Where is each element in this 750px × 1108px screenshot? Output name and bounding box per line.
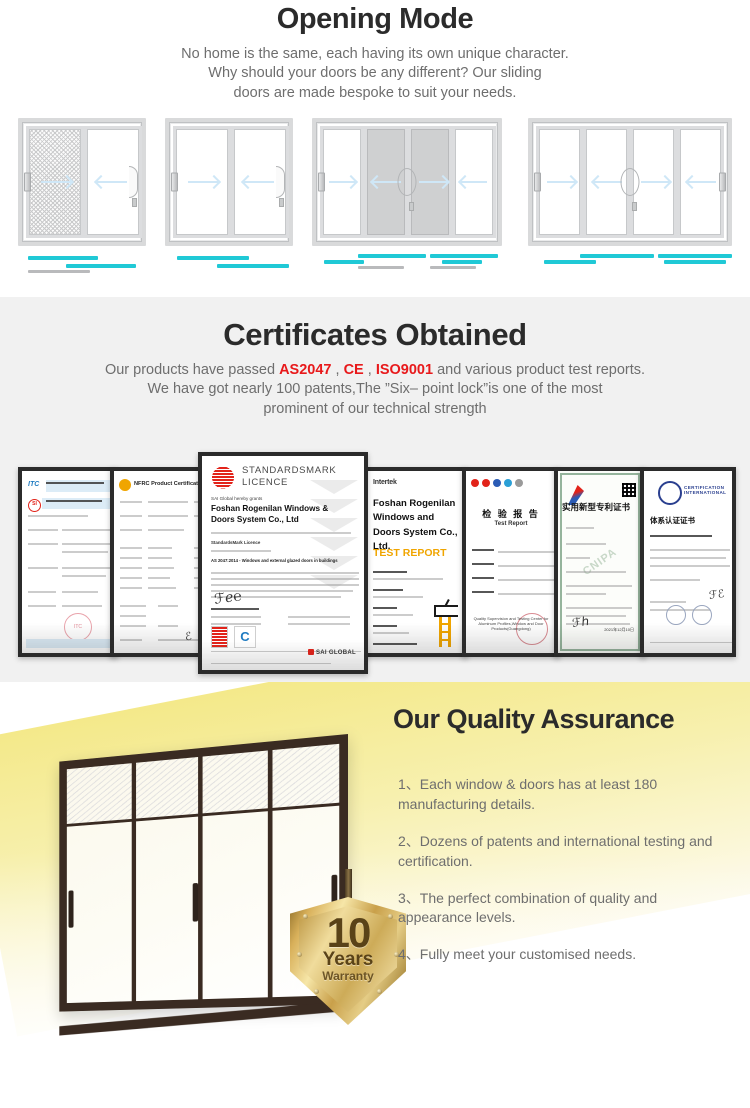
quality-assurance-title: Our Quality Assurance — [393, 704, 674, 735]
badge-number: 10 — [290, 913, 406, 953]
quality-seal-left — [666, 605, 686, 625]
standardsmark-company: Foshan Rogenilan Windows & Doors System … — [211, 504, 354, 525]
standardsmark-logo — [211, 464, 236, 490]
badge-text: 10 Years Warranty — [290, 913, 406, 982]
door-handle-left — [24, 173, 31, 192]
certificate-utility-model-patent[interactable]: 实用新型专利证书 CNIPA ℱℎ 2021年12月10日 — [554, 467, 646, 657]
qr-code — [622, 483, 636, 497]
certificate-standard-name: ISO9001 — [376, 362, 433, 378]
quality-system-signature: ℱℰ — [708, 587, 725, 602]
door-rail-back — [658, 254, 732, 258]
intertek-report-label: TEST REPORT — [373, 547, 447, 559]
door-lock-pin — [132, 198, 137, 207]
door-handle-left — [534, 173, 541, 192]
certificates-subtitle-text: Our products have passed — [105, 362, 279, 378]
door-panel-divider — [131, 763, 135, 1001]
door-rail-front — [28, 256, 98, 260]
certificates-subtitle-text: and various product test reports. — [433, 362, 645, 378]
itc-logo: ITC — [28, 481, 39, 488]
certificates-subtitle-line-2: We have got nearly 100 patents,The ”Six–… — [0, 380, 750, 399]
certificate-china-inspection-report[interactable]: 检 验 报 告 Test Report Quality Supervision … — [462, 467, 560, 657]
door-rail-front — [544, 260, 596, 264]
opening-mode-subtitle-line-2: Why should your doors be any different? … — [0, 64, 750, 83]
quality-assurance-item-2: 2、Dozens of patents and international te… — [398, 832, 728, 872]
door-handle-right — [129, 166, 138, 198]
door-handle-centre-ring — [398, 168, 417, 196]
door-screen-panel — [26, 126, 84, 238]
quality-assurance-item-1: 1、Each window & doors has at least 180 m… — [398, 775, 728, 815]
door-transom-window — [67, 744, 339, 827]
quality-assurance-list: 1、Each window & doors has at least 180 m… — [398, 775, 728, 982]
door-handle-left — [171, 173, 178, 192]
quality-assurance-item-3: 3、The perfect combination of quality and… — [398, 889, 728, 929]
certificate-intertek-test-report[interactable]: Intertek Foshan Rogenilan Windows and Do… — [364, 467, 468, 657]
door-lock-pin — [632, 202, 637, 211]
door-handle-right — [719, 173, 726, 192]
certification-international-name: CERTIFICATION INTERNATIONAL — [684, 485, 732, 495]
patent-title-cn: 实用新型专利证书 — [562, 501, 638, 513]
certificate-quality-system[interactable]: CERTIFICATION INTERNATIONAL 体系认证证书 ℱℰ — [640, 467, 736, 657]
certificate-standardsmark-licence[interactable]: STANDARDSMARK LICENCE SAI Global hereby … — [198, 452, 368, 674]
standardsmark-brand: STANDARDSMARK LICENCE — [242, 465, 336, 489]
door-glass-panel — [173, 126, 231, 238]
door-glass-panel — [452, 126, 496, 238]
door-rail-back — [580, 254, 654, 258]
opening-mode-subtitle: No home is the same, each having its own… — [0, 45, 750, 103]
standardsmark-standard: AS 2047:2014 - Windows and external glaz… — [211, 558, 356, 563]
si-logo: SI — [28, 499, 41, 512]
door-panel-divider — [267, 750, 272, 997]
quality-assurance-item-4: 4、Fully meet your customised needs. — [398, 945, 728, 965]
door-handle-right — [276, 166, 285, 198]
intertek-company: Foshan Rogenilan Windows and Doors Syste… — [373, 497, 460, 554]
certificates-subtitle-text: , — [331, 362, 343, 378]
door-handle — [69, 890, 74, 927]
standardsmark-licence-type: StandardsMark Licence — [211, 540, 260, 545]
certificates-subtitle-line-3: prominent of our technical strength — [0, 400, 750, 419]
door-handle-left — [318, 173, 325, 192]
inspection-report-title-cn: 检 验 报 告 — [466, 507, 556, 520]
product-detail-page: Opening Mode No home is the same, each h… — [0, 0, 750, 1108]
quality-system-title-cn: 体系认证证书 — [650, 515, 695, 526]
door-rail-back — [430, 254, 498, 258]
door-rail-front — [664, 260, 726, 264]
door-rail-back — [358, 254, 426, 258]
door-lock-pin — [279, 198, 284, 207]
door-rail-shadow — [28, 270, 90, 273]
door-handle-centre-ring — [621, 168, 640, 196]
door-handle — [193, 883, 198, 922]
door-lock-pin — [409, 202, 414, 211]
badge-years: Years — [290, 950, 406, 969]
certificates-section: Certificates Obtained Our products have … — [0, 297, 750, 682]
inspection-report-title-en: Test Report — [466, 521, 556, 527]
opening-mode-subtitle-line-3: doors are made bespoke to suit your need… — [0, 84, 750, 103]
door-rail-back — [66, 264, 136, 268]
certificate-itc-report[interactable]: ITC SI — [18, 467, 118, 657]
certification-international-logo — [658, 481, 682, 505]
standardsmark-intro: SAI Global hereby grants — [211, 496, 262, 501]
door-rail-front — [177, 256, 249, 260]
door-glass-panel — [320, 126, 364, 238]
standardsmark-signature: ℱℯ℮ — [213, 587, 243, 608]
certificates-subtitle-line-1: Our products have passed AS2047 , CE , I… — [0, 361, 750, 380]
quality-seal-right — [692, 605, 712, 625]
opening-mode-title: Opening Mode — [0, 3, 750, 36]
door-panel-divider — [198, 757, 203, 1000]
certificate-standard-name: AS2047 — [279, 362, 331, 378]
chevron-watermark — [310, 480, 358, 598]
quality-assurance-section: 10 Years Warranty Our Quality Assurance … — [0, 682, 750, 1108]
door-rail-shadow — [358, 266, 404, 269]
certificate-gallery: ITC SI — [0, 449, 750, 679]
door-glass-panel — [536, 126, 583, 238]
door-rail-back — [217, 264, 289, 268]
nfrc-logo — [119, 479, 131, 491]
certificate-standard-name: CE — [344, 362, 364, 378]
intertek-logo: Intertek — [373, 479, 397, 486]
badge-warranty: Warranty — [290, 970, 406, 982]
door-glass-panel — [677, 126, 724, 238]
opening-mode-section: Opening Mode No home is the same, each h… — [0, 0, 750, 297]
door-rail-shadow — [430, 266, 476, 269]
door-rail-front — [442, 260, 482, 264]
opening-mode-subtitle-line-1: No home is the same, each having its own… — [0, 45, 750, 64]
door-rail-front — [324, 260, 364, 264]
certificates-subtitle: Our products have passed AS2047 , CE , I… — [0, 361, 750, 419]
certification-mark-icons — [471, 479, 523, 487]
door-diagram-row — [0, 118, 750, 278]
certificates-title: Certificates Obtained — [0, 297, 750, 353]
certificates-subtitle-text: , — [364, 362, 376, 378]
badge-pole — [345, 869, 352, 901]
warranty-badge: 10 Years Warranty — [290, 897, 406, 1025]
